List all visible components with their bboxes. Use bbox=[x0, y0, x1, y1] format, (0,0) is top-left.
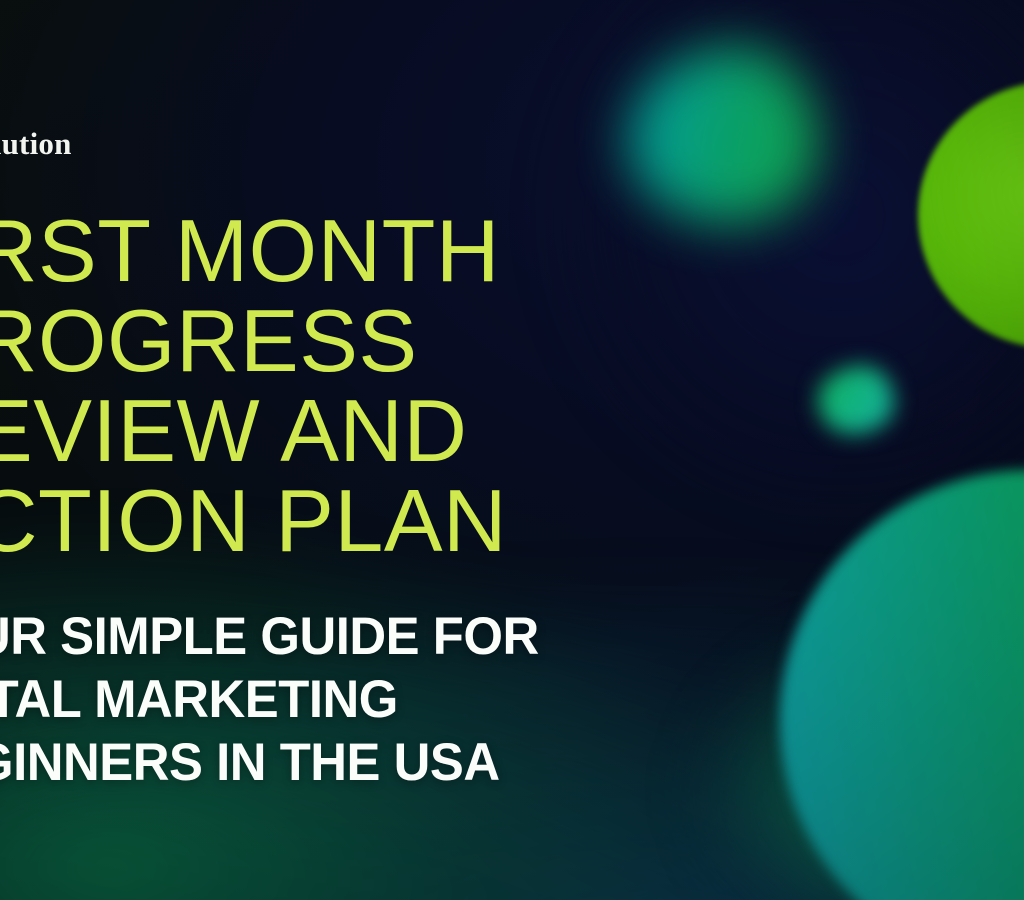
headline-block: RST MONTH ROGRESS EVIEW AND CTION PLAN bbox=[0, 206, 734, 566]
subtitle-line: ITAL MARKETING bbox=[0, 668, 704, 731]
poster-content: o Solution RST MONTH ROGRESS EVIEW AND C… bbox=[0, 0, 1024, 900]
poster-canvas: o Solution RST MONTH ROGRESS EVIEW AND C… bbox=[0, 0, 1024, 900]
headline-line: EVIEW AND bbox=[0, 386, 734, 476]
headline-line: ROGRESS bbox=[0, 296, 734, 386]
subtitle-block: UR SIMPLE GUIDE FOR ITAL MARKETING GINNE… bbox=[0, 605, 734, 794]
subtitle-line: GINNERS IN THE USA bbox=[0, 731, 704, 794]
subtitle-line: UR SIMPLE GUIDE FOR bbox=[0, 605, 704, 668]
headline-line: RST MONTH bbox=[0, 206, 734, 296]
headline-line: CTION PLAN bbox=[0, 476, 734, 566]
brand-logo-text: o Solution bbox=[0, 126, 72, 162]
